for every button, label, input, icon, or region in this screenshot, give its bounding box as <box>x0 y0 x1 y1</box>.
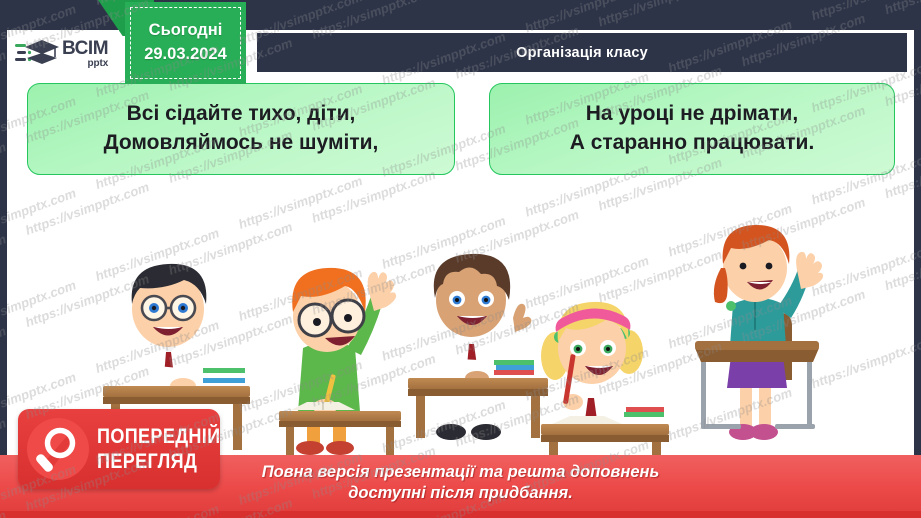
brand-logo: ВСІМ pptx <box>7 30 119 78</box>
verse-box-left: Всі сідайте тихо, діти, Домовляймось не … <box>27 83 455 175</box>
graduation-cap-icon <box>15 37 59 71</box>
slide-root: Організація класу ВСІМ pptx Сьогодні 29 <box>0 0 921 518</box>
verse-box-row: Всі сідайте тихо, діти, Домовляймось не … <box>0 83 921 193</box>
today-date-badge: Сьогодні 29.03.2024 <box>125 2 246 84</box>
preview-badge: ПОПЕРЕДНІЙ ПЕРЕГЛЯД <box>18 409 220 489</box>
logo-name: ВСІМ <box>62 39 108 58</box>
page-title: Організація класу <box>516 45 648 61</box>
verse-box-right: На уроці не дрімати, А старанно працюват… <box>489 83 895 175</box>
character-blonde-girl <box>541 302 669 464</box>
banner-footer-strip <box>0 511 921 518</box>
magnifier-icon <box>27 418 89 480</box>
banner-line-2: доступні після придбання. <box>348 483 573 504</box>
verse-line: Домовляймось не шуміти, <box>104 129 379 158</box>
verse-line: Всі сідайте тихо, діти, <box>127 100 356 129</box>
verse-line: На уроці не дрімати, <box>586 100 798 129</box>
date-badge-label: Сьогодні <box>149 19 223 43</box>
banner-line-1: Повна версія презентації та решта доповн… <box>262 462 660 483</box>
preview-badge-line-2: ПЕРЕГЛЯД <box>97 451 221 472</box>
verse-line: А старанно працювати. <box>570 129 815 158</box>
preview-badge-line-1: ПОПЕРЕДНІЙ <box>97 426 221 447</box>
character-girl-in-teal <box>695 225 823 440</box>
logo-suffix: pptx <box>88 59 109 69</box>
character-red-haired-boy <box>279 268 401 459</box>
character-curly-haired-boy <box>408 254 548 440</box>
slide-title-bar: Організація класу <box>257 33 907 72</box>
date-badge-value: 29.03.2024 <box>144 43 227 67</box>
